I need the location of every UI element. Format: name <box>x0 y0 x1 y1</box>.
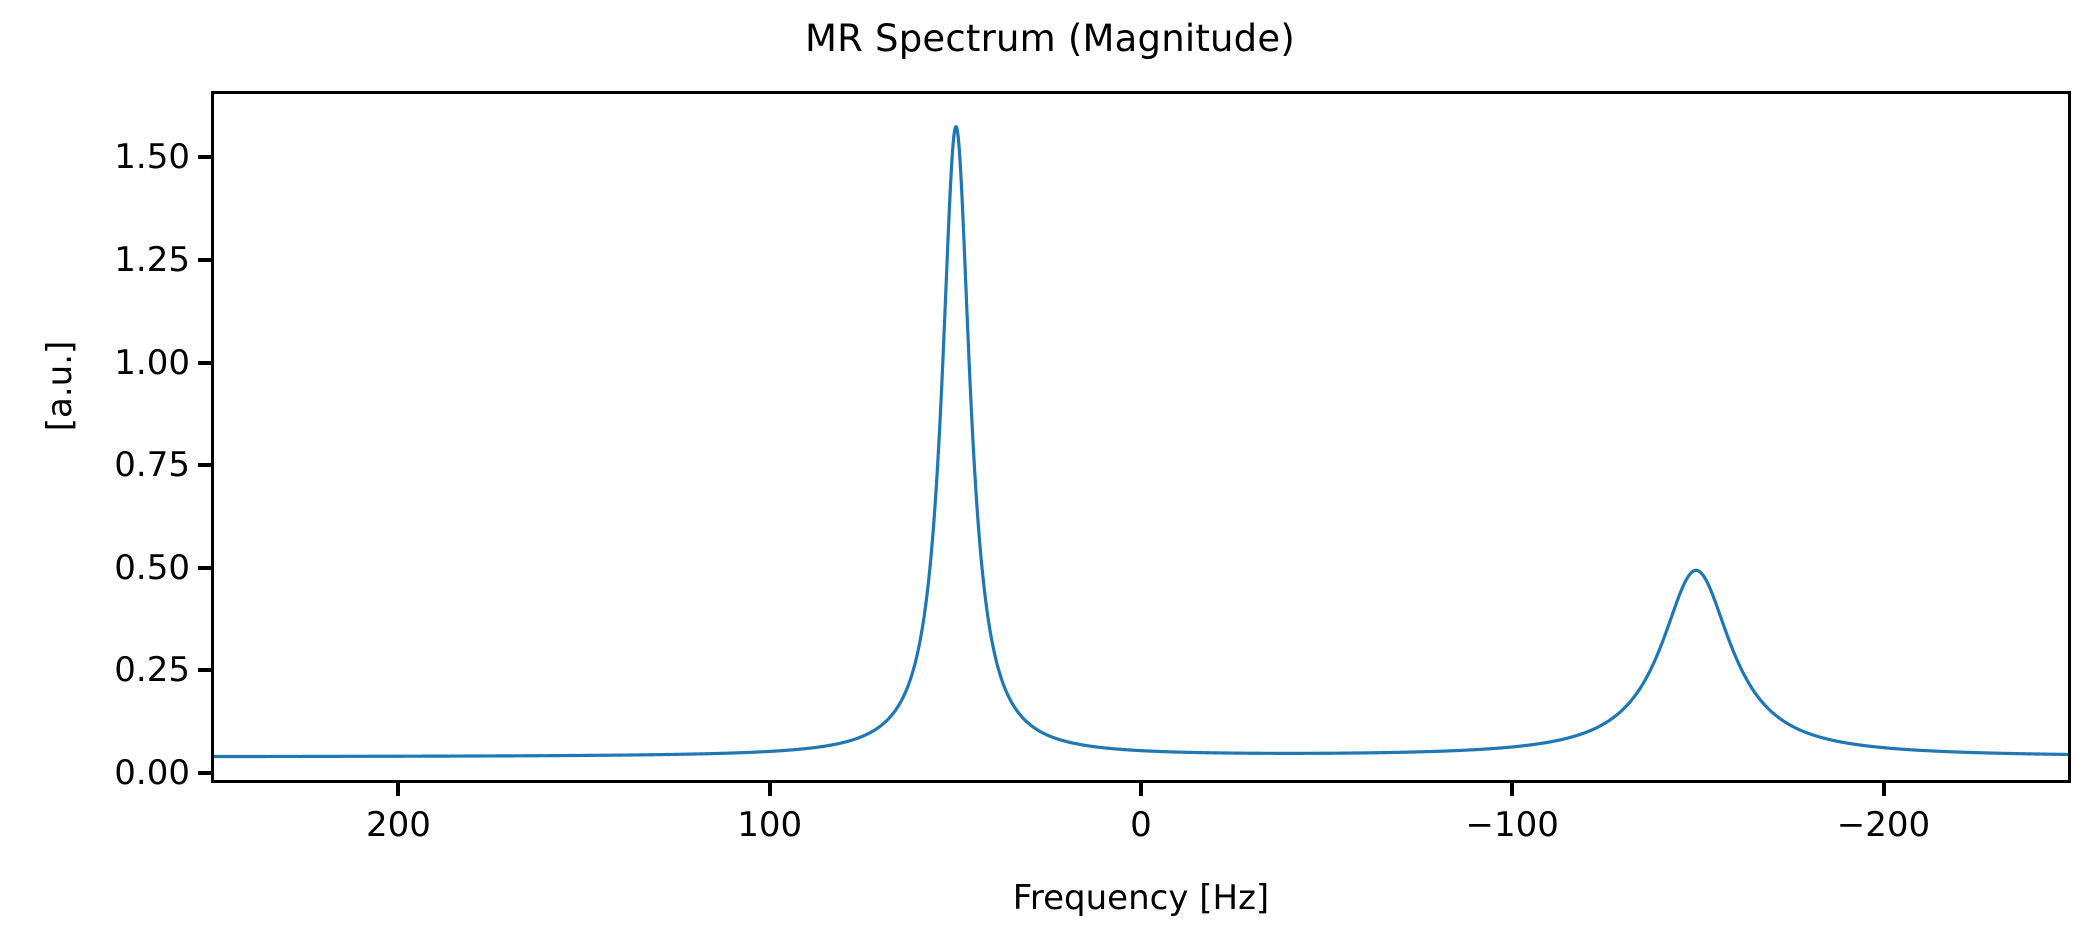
x-tick-label: 200 <box>278 803 518 847</box>
x-tick-label: 0 <box>1021 803 1261 847</box>
x-tick-label: −100 <box>1392 803 1632 847</box>
y-tick-mark <box>198 668 211 672</box>
y-tick-mark <box>198 463 211 467</box>
x-tick-label: 100 <box>650 803 890 847</box>
x-tick-label: −200 <box>1764 803 2004 847</box>
x-tick-mark <box>396 783 400 796</box>
y-tick-label: 1.25 <box>114 238 190 282</box>
y-tick-label: 0.25 <box>114 648 190 692</box>
y-tick-label: 0.50 <box>114 546 190 590</box>
y-tick-label: 1.00 <box>114 341 190 385</box>
x-tick-mark <box>1882 783 1886 796</box>
matplotlib-figure: MR Spectrum (Magnitude) 0.000.250.500.75… <box>0 0 2100 945</box>
spectrum-curve <box>214 127 2068 757</box>
x-tick-mark <box>768 783 772 796</box>
x-axis-label: Frequency [Hz] <box>211 877 2071 919</box>
y-tick-label: 0.00 <box>114 751 190 795</box>
spectrum-line-series <box>214 94 2068 780</box>
y-tick-label: 0.75 <box>114 443 190 487</box>
y-axis-label: [a.u.] <box>39 266 81 506</box>
y-tick-mark <box>198 771 211 775</box>
plot-axes <box>211 91 2071 783</box>
plot-area <box>214 94 2068 780</box>
y-tick-mark <box>198 155 211 159</box>
x-tick-mark <box>1139 783 1143 796</box>
x-tick-mark <box>1510 783 1514 796</box>
y-tick-mark <box>198 258 211 262</box>
y-tick-label: 1.50 <box>114 135 190 179</box>
y-tick-mark <box>198 566 211 570</box>
page-title: MR Spectrum (Magnitude) <box>0 17 2100 61</box>
y-tick-mark <box>198 361 211 365</box>
